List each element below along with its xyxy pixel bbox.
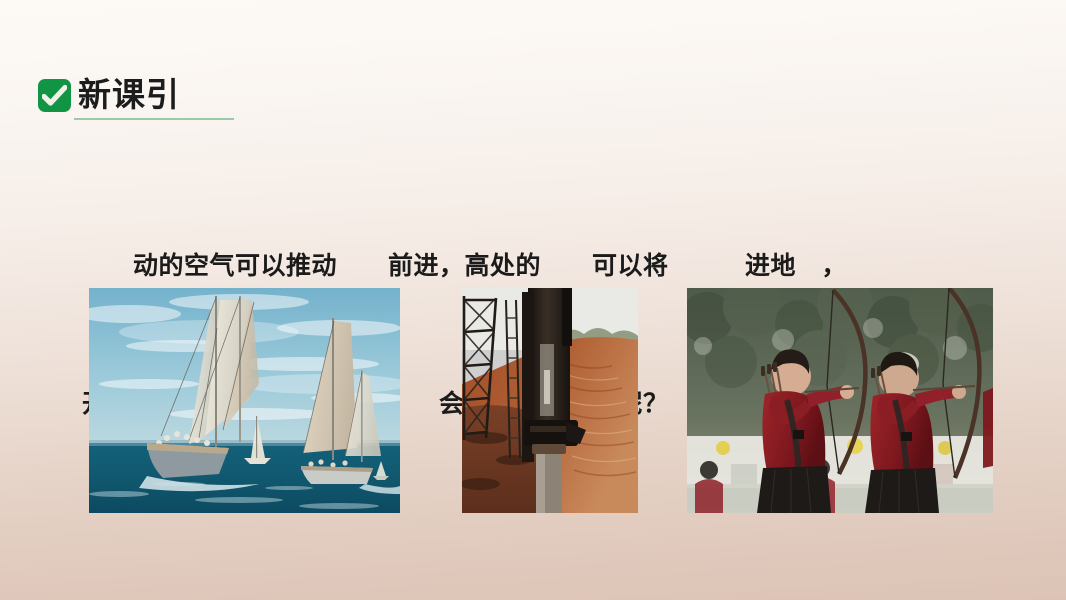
header-underline-rule <box>74 118 234 120</box>
section-header: 新课引 <box>38 76 180 114</box>
body-line-1: 动的空气可以推动 前进，高处的 可以将 进地 ， <box>82 243 1042 289</box>
check-mark-icon <box>38 79 71 112</box>
page-title: 新课引 <box>78 76 180 114</box>
archery-photo <box>687 288 993 513</box>
pile-driver-photo <box>462 288 638 513</box>
slide-canvas: 新课引 动的空气可以推动 前进，高处的 可以将 进地 ， 开的 可以将 出 ，为… <box>0 0 1066 600</box>
section-header-text-wrap: 新课引 <box>78 76 180 114</box>
sailboats-photo <box>89 288 400 513</box>
